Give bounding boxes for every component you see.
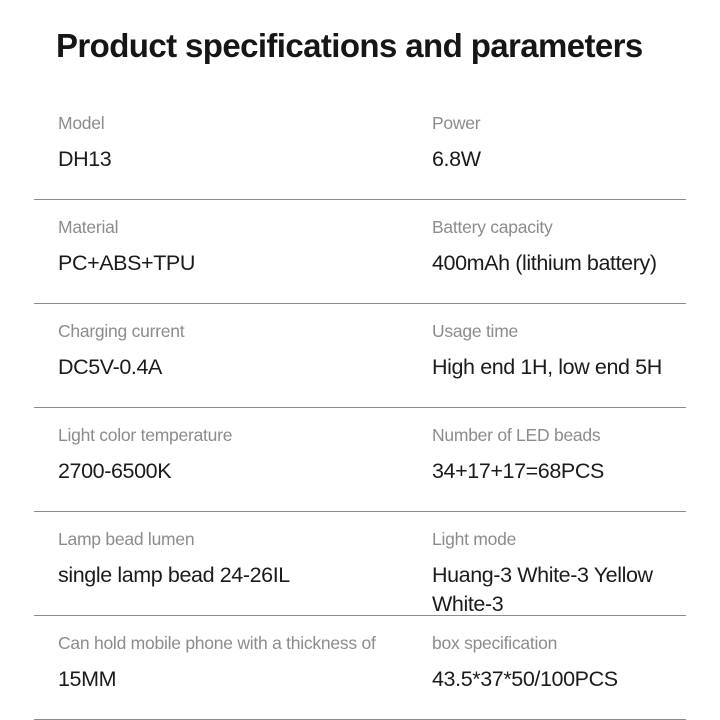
spec-cell-right: Power 6.8W <box>432 96 686 200</box>
spec-cell-left: Light color temperature 2700-6500K <box>58 408 432 512</box>
spec-cell-right: Number of LED beads 34+17+17=68PCS <box>432 408 686 512</box>
spec-label: Light mode <box>432 528 686 550</box>
table-row: Material PC+ABS+TPU Battery capacity 400… <box>0 200 720 304</box>
spec-label: Number of LED beads <box>432 424 686 446</box>
spec-cell-right: Battery capacity 400mAh (lithium battery… <box>432 200 686 304</box>
spec-label: Can hold mobile phone with a thickness o… <box>58 632 432 654</box>
spec-label: Material <box>58 216 432 238</box>
spec-cell-left: Charging current DC5V-0.4A <box>58 304 432 408</box>
spec-cell-left: Material PC+ABS+TPU <box>58 200 432 304</box>
table-row: Light color temperature 2700-6500K Numbe… <box>0 408 720 512</box>
spec-value: 6.8W <box>432 145 686 174</box>
spec-value: 43.5*37*50/100PCS <box>432 665 686 694</box>
spec-label: Lamp bead lumen <box>58 528 432 550</box>
spec-cell-right: Usage time High end 1H, low end 5H <box>432 304 686 408</box>
table-row: Lamp bead lumen single lamp bead 24-26IL… <box>0 512 720 616</box>
spec-value: single lamp bead 24-26IL <box>58 561 432 590</box>
spec-value: 15MM <box>58 665 432 694</box>
spec-cell-left: Can hold mobile phone with a thickness o… <box>58 616 432 720</box>
spec-cell-right: box specification 43.5*37*50/100PCS <box>432 616 686 720</box>
spec-label: Power <box>432 112 686 134</box>
spec-cell-right: Light mode Huang-3 White-3 Yellow White-… <box>432 512 686 616</box>
spec-label: Light color temperature <box>58 424 432 446</box>
spec-cell-left: Model DH13 <box>58 96 432 200</box>
spec-cell-left: Lamp bead lumen single lamp bead 24-26IL <box>58 512 432 616</box>
spec-value: 2700-6500K <box>58 457 432 486</box>
table-row: Model DH13 Power 6.8W <box>0 96 720 200</box>
spec-value: PC+ABS+TPU <box>58 249 432 278</box>
spec-value: DH13 <box>58 145 432 174</box>
spec-value: DC5V-0.4A <box>58 353 432 382</box>
specifications-table: Model DH13 Power 6.8W Material PC+ABS+TP… <box>0 96 720 720</box>
spec-label: Charging current <box>58 320 432 342</box>
product-spec-page: Product specifications and parameters Mo… <box>0 0 720 720</box>
page-title: Product specifications and parameters <box>56 24 643 68</box>
spec-value: Huang-3 White-3 Yellow White-3 <box>432 561 682 619</box>
spec-value: High end 1H, low end 5H <box>432 353 686 382</box>
spec-value: 400mAh (lithium battery) <box>432 249 686 278</box>
spec-label: Battery capacity <box>432 216 686 238</box>
spec-value: 34+17+17=68PCS <box>432 457 686 486</box>
table-row: Charging current DC5V-0.4A Usage time Hi… <box>0 304 720 408</box>
spec-label: box specification <box>432 632 686 654</box>
table-row: Can hold mobile phone with a thickness o… <box>0 616 720 720</box>
spec-label: Model <box>58 112 432 134</box>
spec-label: Usage time <box>432 320 686 342</box>
